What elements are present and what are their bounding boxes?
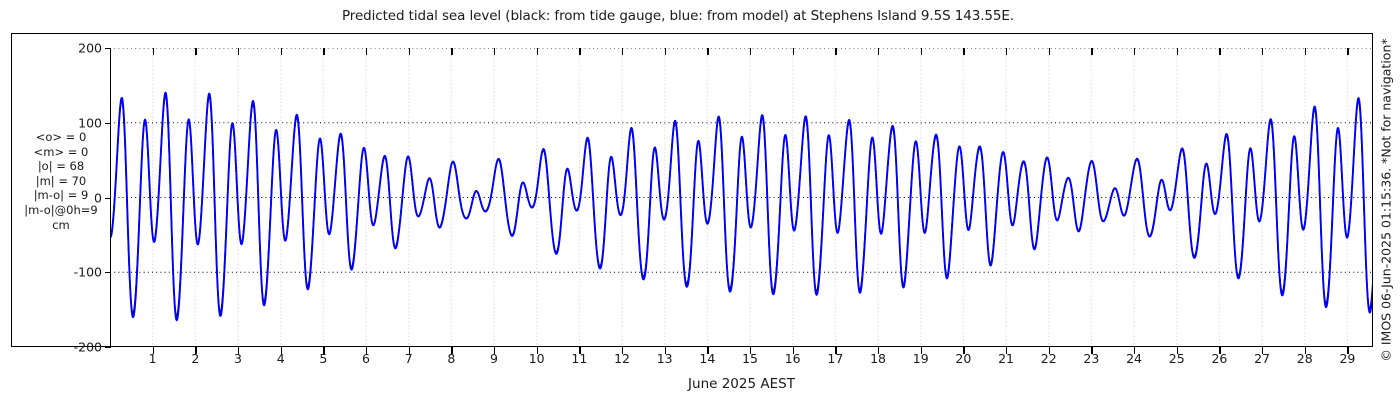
x-tick-mark-top xyxy=(579,48,580,55)
x-tick-label: 26 xyxy=(1211,351,1227,366)
x-tick-mark-top xyxy=(1091,48,1092,55)
x-tick-label: 21 xyxy=(998,351,1014,366)
x-tick-label: 17 xyxy=(827,351,843,366)
x-tick-mark-top xyxy=(878,48,879,55)
x-tick-label: 16 xyxy=(785,351,801,366)
stat-absdiff-0h: |m-o|@0h=9 xyxy=(14,203,108,218)
y-tick-label: 200 xyxy=(54,41,102,56)
x-tick-label: 3 xyxy=(234,351,242,366)
x-tick-mark-top xyxy=(835,48,836,55)
x-tick-mark-top xyxy=(238,48,239,55)
x-tick-label: 4 xyxy=(277,351,285,366)
x-tick-label: 20 xyxy=(955,351,971,366)
x-tick-label: 11 xyxy=(571,351,587,366)
y-axis-tick-labels: 2001000-100-200 xyxy=(110,48,1373,347)
credit-text: © IMOS 06-Jun-2025 01:15:36. *Not for na… xyxy=(1379,38,1394,361)
x-tick-mark-top xyxy=(1305,48,1306,55)
x-tick-mark-top xyxy=(1177,48,1178,55)
x-axis-tick-labels: 1234567891011121314151617181920212223242… xyxy=(110,351,1373,371)
y-tick-mark xyxy=(105,123,111,124)
y-tick-label: 0 xyxy=(54,190,102,205)
x-tick-label: 15 xyxy=(742,351,758,366)
x-tick-label: 9 xyxy=(490,351,498,366)
x-tick-mark-top xyxy=(1219,48,1220,55)
y-tick-mark xyxy=(105,347,111,348)
stat-mean-obs: <o> = 0 xyxy=(14,130,108,145)
x-tick-label: 6 xyxy=(362,351,370,366)
stat-absmean-model: |m| = 70 xyxy=(14,174,108,189)
x-tick-mark-top xyxy=(707,48,708,55)
x-tick-mark-top xyxy=(1262,48,1263,55)
y-tick-label: -100 xyxy=(54,265,102,280)
x-tick-label: 12 xyxy=(614,351,630,366)
x-tick-label: 24 xyxy=(1126,351,1142,366)
x-tick-mark-top xyxy=(921,48,922,55)
stat-units: cm xyxy=(14,218,108,233)
y-tick-label: -200 xyxy=(54,340,102,355)
x-tick-label: 7 xyxy=(405,351,413,366)
x-tick-label: 22 xyxy=(1041,351,1057,366)
x-tick-mark-top xyxy=(281,48,282,55)
x-tick-mark-top xyxy=(665,48,666,55)
x-tick-mark-top xyxy=(622,48,623,55)
x-tick-mark-top xyxy=(793,48,794,55)
x-tick-label: 1 xyxy=(149,351,157,366)
x-tick-mark-top xyxy=(1134,48,1135,55)
x-tick-mark-top xyxy=(195,48,196,55)
x-tick-mark-top xyxy=(409,48,410,55)
page-title: Predicted tidal sea level (black: from t… xyxy=(0,8,1356,24)
statistics-block: <o> = 0 <m> = 0 |o| = 68 |m| = 70 |m-o| … xyxy=(14,130,108,232)
x-tick-mark-top xyxy=(366,48,367,55)
chart-plot-region: 2001000-100-200 123456789101112131415161… xyxy=(110,48,1373,347)
x-tick-mark-top xyxy=(323,48,324,55)
x-tick-label: 5 xyxy=(319,351,327,366)
x-tick-mark-top xyxy=(494,48,495,55)
credit-notice: © IMOS 06-Jun-2025 01:15:36. *Not for na… xyxy=(1374,0,1398,400)
x-tick-mark-top xyxy=(537,48,538,55)
x-tick-mark-top xyxy=(1006,48,1007,55)
plot-area: 2001000-100-200 xyxy=(110,48,1373,347)
x-tick-mark-top xyxy=(1347,48,1348,55)
x-tick-label: 18 xyxy=(870,351,886,366)
x-tick-label: 23 xyxy=(1083,351,1099,366)
x-tick-mark-top xyxy=(963,48,964,55)
x-tick-label: 10 xyxy=(529,351,545,366)
x-tick-mark-top xyxy=(451,48,452,55)
x-axis-title: June 2025 AEST xyxy=(110,376,1373,392)
y-tick-mark xyxy=(105,48,111,49)
x-tick-mark-top xyxy=(153,48,154,55)
x-tick-label: 8 xyxy=(447,351,455,366)
y-tick-label: 100 xyxy=(54,115,102,130)
x-tick-label: 25 xyxy=(1169,351,1185,366)
x-tick-label: 28 xyxy=(1297,351,1313,366)
x-tick-mark-top xyxy=(1049,48,1050,55)
y-tick-mark xyxy=(105,198,111,199)
x-tick-mark-top xyxy=(750,48,751,55)
x-tick-label: 29 xyxy=(1339,351,1355,366)
stat-mean-model: <m> = 0 xyxy=(14,145,108,160)
x-tick-label: 27 xyxy=(1254,351,1270,366)
x-tick-label: 13 xyxy=(657,351,673,366)
y-tick-mark xyxy=(105,272,111,273)
x-tick-label: 2 xyxy=(191,351,199,366)
x-tick-label: 14 xyxy=(699,351,715,366)
stat-absmean-obs: |o| = 68 xyxy=(14,159,108,174)
x-tick-label: 19 xyxy=(913,351,929,366)
